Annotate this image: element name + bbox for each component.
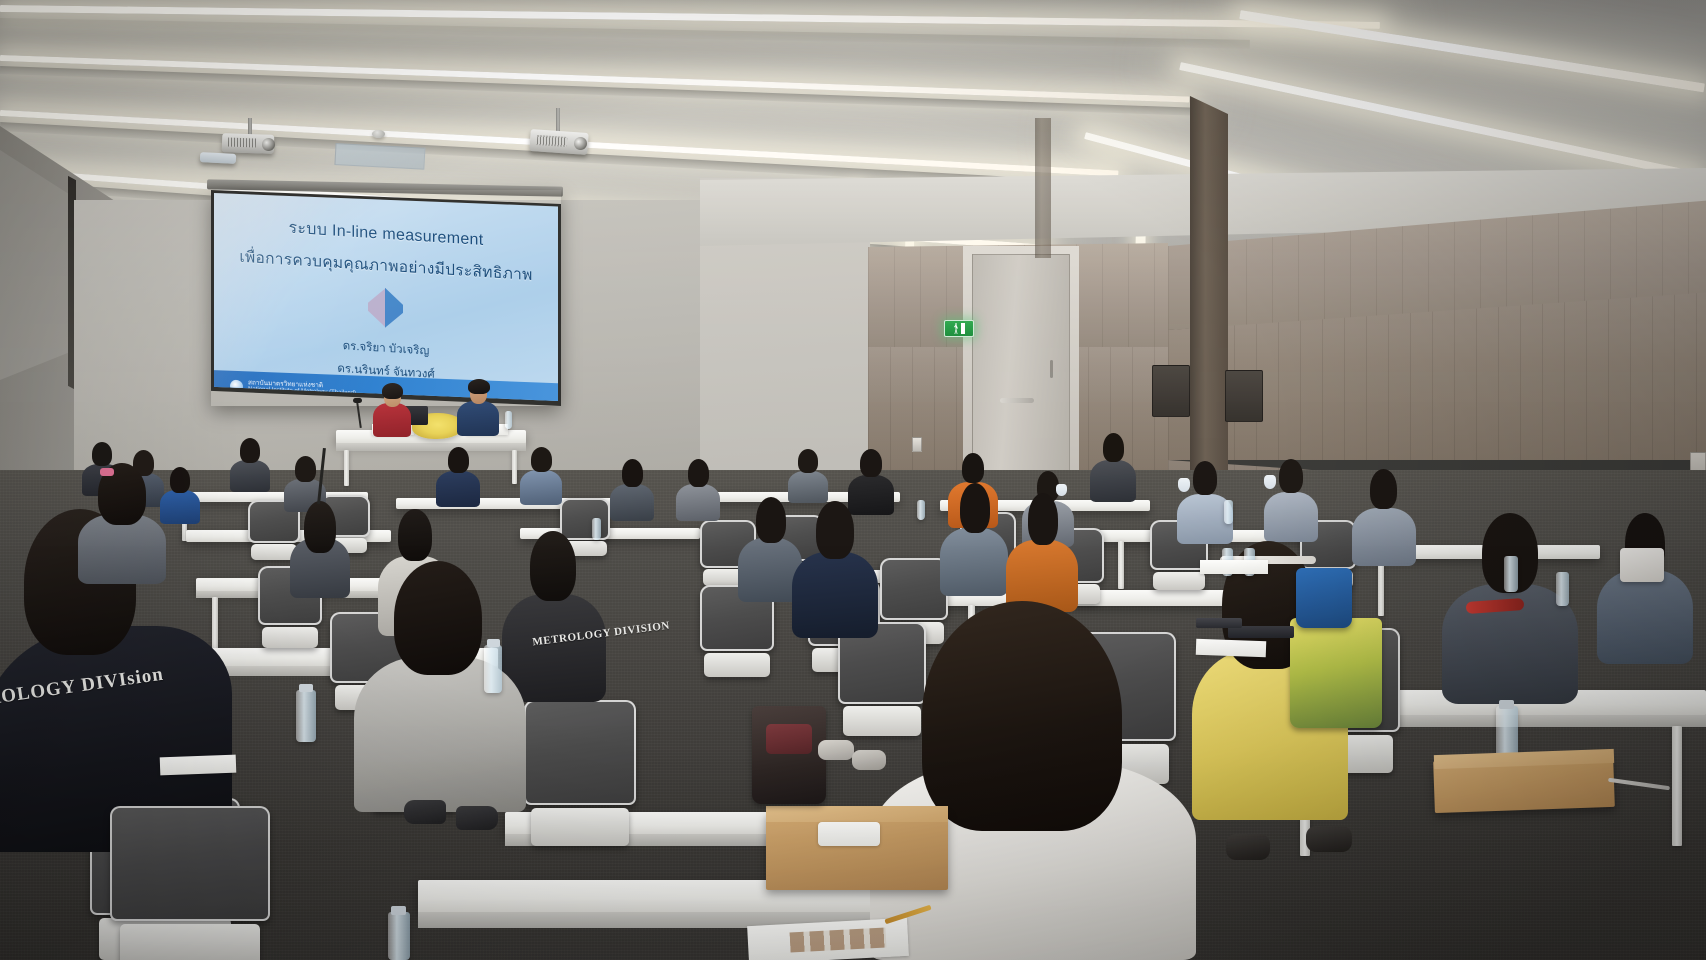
attendee-hair — [922, 601, 1122, 831]
attendee-hair — [394, 561, 482, 675]
water-bottle-4[interactable] — [1496, 706, 1518, 758]
attendee-hair — [798, 449, 818, 473]
microphone-head-1 — [353, 398, 362, 403]
attendee-hair — [1103, 433, 1124, 462]
water-bottle-presenter — [505, 411, 512, 429]
notes-left-table[interactable] — [160, 755, 237, 776]
shoe-mid-2 — [852, 750, 886, 770]
nimt-diamond-logo-icon — [368, 287, 404, 329]
notes-mid-table[interactable] — [1200, 560, 1268, 574]
tote-bag-on-chair — [1290, 618, 1382, 728]
attendee-hair — [398, 509, 432, 561]
attendee-hair — [1193, 461, 1217, 495]
attendee-mid-1 — [288, 500, 352, 596]
logo-right-facet — [385, 288, 403, 329]
chair-seat — [262, 627, 318, 648]
attendee-hair — [622, 459, 643, 487]
water-bottle-11[interactable] — [917, 500, 925, 520]
attendee-far-10 — [786, 448, 830, 502]
presenter-red-shirt-hair — [382, 383, 403, 399]
tablet-right-table[interactable] — [1196, 618, 1242, 628]
attendee-far-8 — [608, 458, 656, 520]
backpack-on-floor — [752, 706, 826, 804]
presenter-red-shirt — [370, 381, 414, 435]
projector-mount-right — [556, 108, 560, 132]
attendee-hair — [756, 497, 786, 543]
water-bottle-2-cap — [487, 639, 500, 647]
handrail — [1000, 398, 1034, 403]
water-bottle-1[interactable] — [296, 690, 316, 742]
attendee-hair — [1370, 469, 1397, 509]
attendee-torso — [1090, 460, 1136, 502]
pink-hair-clip — [100, 468, 114, 476]
attendee-torso — [436, 471, 480, 507]
attendee-torso — [1264, 492, 1318, 542]
column-dark-far — [1035, 118, 1051, 258]
attendee-far-6 — [434, 446, 482, 506]
face-mask — [1264, 475, 1276, 489]
wall-speaker-left — [1152, 365, 1190, 417]
attendee-hair — [1028, 493, 1058, 545]
chair-back — [110, 806, 270, 921]
attendee-torso — [610, 484, 654, 521]
smoke-detector-1 — [372, 130, 385, 138]
presenter-red-shirt-torso — [373, 403, 411, 437]
emergency-exit-sign — [944, 320, 974, 337]
attendee-hair — [860, 449, 882, 477]
projector-left-vent — [228, 138, 256, 148]
slide-title-line2: เพื่อการควบคุมคุณภาพอย่างมีประสิทธิภาพ — [239, 244, 532, 287]
wall-speaker-right — [1225, 370, 1263, 422]
attendee-torso — [520, 470, 562, 505]
slide-author-1: ดร.จริยา บัวเจริญ — [343, 337, 430, 360]
attendee-hair — [960, 483, 990, 533]
chair-seat — [120, 924, 261, 960]
shoe-right-1 — [1306, 826, 1352, 852]
water-bottle-3-cap — [391, 906, 406, 915]
shoe-left-2 — [456, 806, 498, 830]
chair-back — [524, 700, 636, 805]
chair-foreground-partial[interactable] — [110, 806, 270, 960]
door-handle[interactable] — [1050, 360, 1053, 378]
attendee-torso — [792, 552, 878, 638]
water-bottle-5[interactable] — [1504, 556, 1518, 592]
projector-right-vent — [537, 135, 568, 147]
running-man-icon — [954, 323, 959, 334]
attendee-hair — [688, 459, 709, 487]
column-dark-right — [1190, 96, 1228, 486]
tissue-pack-right — [1620, 548, 1664, 582]
attendee-near-white-shirt — [868, 600, 1198, 960]
projector-left-lens — [262, 138, 275, 151]
cardboard-box-center-lid — [766, 806, 948, 822]
presentation-slide: ระบบ In-line measurement เพื่อการควบคุมค… — [214, 193, 558, 401]
water-bottle-2[interactable] — [484, 645, 502, 693]
exit-door[interactable] — [972, 254, 1070, 476]
notes-right-table[interactable] — [1196, 639, 1267, 657]
attendee-torso — [230, 460, 270, 492]
projection-screen: ระบบ In-line measurement เพื่อการควบคุมค… — [211, 190, 561, 406]
attendee-torso — [1352, 508, 1416, 566]
attendee-near-pink-hairclip — [76, 462, 168, 582]
water-bottle-4-cap — [1499, 700, 1514, 709]
attendee-torso — [676, 484, 720, 521]
attendee-hair — [1279, 459, 1303, 493]
attendee-hair — [530, 531, 576, 601]
projector-left-ceiling-box — [200, 152, 236, 164]
chair-near-2[interactable] — [524, 700, 636, 846]
attendee-mid-5-navy — [790, 500, 880, 636]
ceiling-access-panel — [334, 143, 425, 170]
exit-door-icon — [961, 323, 965, 334]
table-row5-right-leg2 — [1672, 726, 1682, 846]
attendee-far-18 — [1595, 512, 1695, 662]
attendee-mid-6 — [938, 482, 1010, 594]
blue-tote-bag — [1296, 568, 1352, 628]
table-row3-right-leg — [1378, 558, 1384, 616]
attendee-hair — [170, 467, 190, 493]
attendee-hair — [295, 456, 316, 482]
attendee-hair — [448, 447, 469, 473]
shoe-left-1 — [404, 800, 446, 824]
attendee-mid-7-orange — [1004, 492, 1080, 610]
shoe-mid-1 — [818, 740, 854, 760]
attendee-torso — [940, 528, 1008, 596]
presenter-navy-shirt — [455, 378, 501, 434]
water-bottle-10[interactable] — [592, 518, 601, 540]
attendee-hair — [816, 501, 854, 559]
presenter-table-leg-right — [512, 450, 517, 484]
attendee-far-9 — [674, 458, 722, 520]
attendee-far-7 — [518, 446, 564, 504]
backpack-accent — [766, 724, 812, 754]
attendee-hair — [531, 447, 552, 472]
water-bottle-6[interactable] — [1556, 572, 1569, 606]
water-bottle-9[interactable] — [1224, 500, 1233, 524]
slide-title-line1: ระบบ In-line measurement — [289, 216, 484, 253]
water-bottle-1-cap — [299, 684, 313, 692]
presenter-table-leg-left — [344, 450, 349, 486]
attendee-far-17 — [1350, 468, 1418, 564]
attendee-far-4 — [228, 437, 272, 491]
attendee-far-14 — [1088, 432, 1138, 500]
projector-right-lens — [574, 137, 587, 150]
table-row2-right-leg — [1118, 541, 1124, 589]
presenter-table-edge — [336, 443, 526, 451]
attendee-hair — [240, 438, 260, 463]
presenter-navy-shirt-hair — [468, 379, 490, 394]
chair-seat — [704, 653, 769, 677]
presenter-navy-shirt-torso — [457, 401, 499, 436]
attendee-torso — [1597, 570, 1693, 664]
attendee-hair — [304, 501, 336, 553]
attendee-hair — [962, 453, 984, 483]
seminar-room-photo: ระบบ In-line measurement เพื่อการควบคุมค… — [0, 0, 1706, 960]
tissue-on-box — [818, 822, 880, 846]
shoe-right-2 — [1226, 834, 1270, 860]
chair-seat — [531, 808, 630, 846]
face-mask — [1178, 478, 1190, 492]
water-bottle-3[interactable] — [388, 912, 410, 960]
wall-control-panel[interactable] — [912, 437, 922, 452]
attendee-far-16 — [1262, 458, 1320, 540]
logo-left-facet — [368, 287, 386, 328]
